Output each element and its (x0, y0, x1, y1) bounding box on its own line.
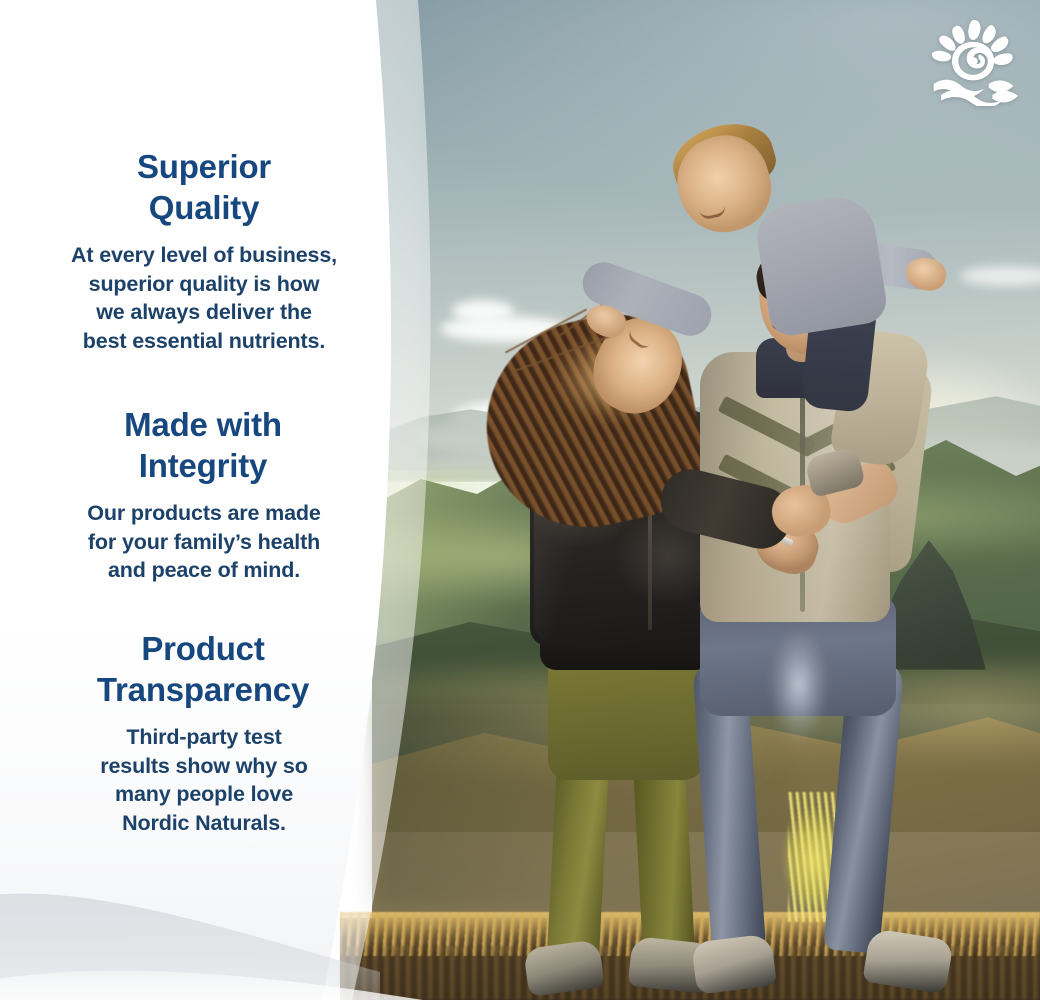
sun-wave-logo-icon (928, 18, 1020, 106)
mother-leg-right (633, 759, 695, 959)
block-body: Our products are made for your family’s … (0, 499, 412, 585)
block-body: At every level of business, superior qua… (0, 241, 412, 355)
block-body: Third-party test results show why so man… (0, 723, 412, 837)
mother-cargo-pants (548, 652, 704, 780)
father-jeans-highlight (760, 610, 838, 760)
block-heading: Made with Integrity (0, 404, 412, 486)
block-heading: Product Transparency (0, 628, 412, 710)
value-block-made-with-integrity: Made with Integrity Our products are mad… (0, 404, 412, 585)
value-block-superior-quality: Superior Quality At every level of busin… (0, 146, 412, 355)
cloud (452, 300, 514, 322)
value-block-product-transparency: Product Transparency Third-party test re… (0, 628, 412, 837)
mother-leg-left (547, 759, 609, 961)
father-sneaker-left (691, 933, 777, 994)
promo-graphic: Superior Quality At every level of busin… (0, 0, 1040, 1000)
value-propositions: Superior Quality At every level of busin… (0, 0, 412, 1000)
block-heading: Superior Quality (0, 146, 412, 228)
